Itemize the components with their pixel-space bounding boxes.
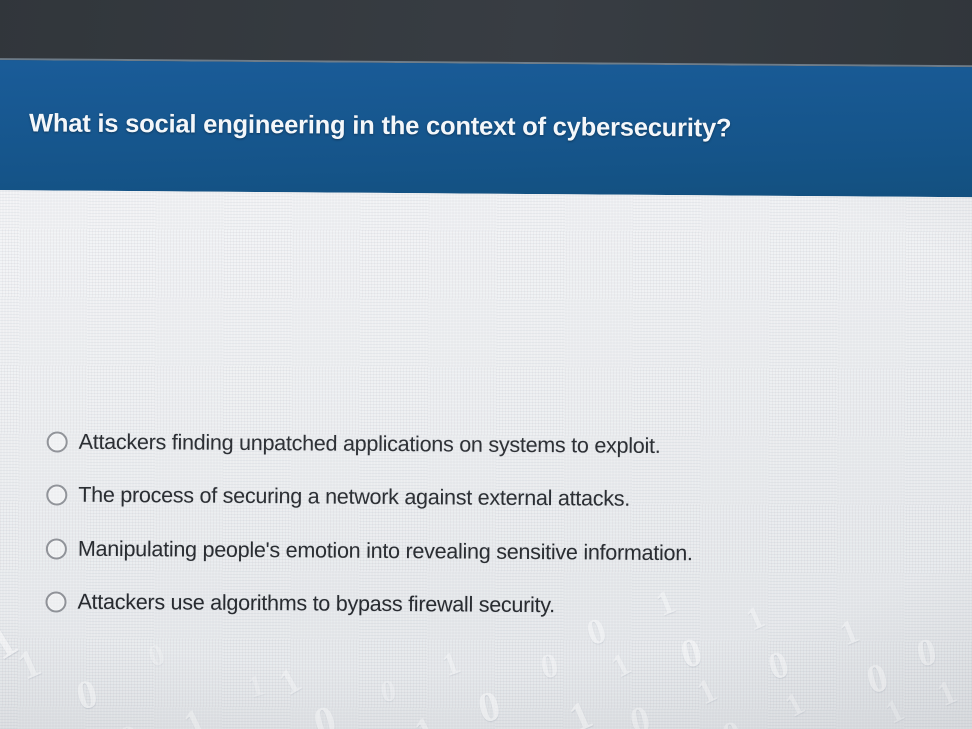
option-label: Attackers use algorithms to bypass firew… bbox=[77, 590, 555, 618]
watermark-digit: 0 bbox=[581, 609, 611, 654]
watermark-digit: 0 bbox=[804, 725, 831, 729]
screen-pixel-texture bbox=[0, 190, 972, 729]
watermark-digit: 1 bbox=[272, 659, 308, 704]
photographed-screen: What is social engineering in the contex… bbox=[0, 0, 972, 729]
watermark-digit: 1 bbox=[692, 671, 724, 713]
watermark-digit: 0 bbox=[72, 669, 102, 719]
option-label: The process of securing a network agains… bbox=[78, 483, 630, 512]
option-row-c[interactable]: Manipulating people's emotion into revea… bbox=[46, 536, 693, 566]
quiz-screen: What is social engineering in the contex… bbox=[0, 0, 972, 729]
answer-panel: 110010101011010101010101010101010101 Att… bbox=[0, 190, 972, 729]
watermark-digit: 1 bbox=[779, 684, 810, 724]
watermark-digit: 1 bbox=[741, 598, 770, 638]
photo-glare bbox=[0, 190, 972, 729]
watermark-digit: 1 bbox=[562, 690, 599, 729]
watermark-digit: 0 bbox=[675, 627, 707, 678]
radio-unchecked-icon[interactable] bbox=[46, 484, 67, 505]
watermark-digit: 1 bbox=[605, 645, 636, 685]
watermark-digit: 1 bbox=[437, 644, 464, 684]
radio-unchecked-icon[interactable] bbox=[46, 538, 67, 559]
question-banner: What is social engineering in the contex… bbox=[0, 60, 972, 197]
option-row-a[interactable]: Attackers finding unpatched applications… bbox=[47, 429, 661, 458]
top-chrome-bar bbox=[0, 0, 972, 67]
watermark-digit: 1 bbox=[932, 673, 963, 715]
watermark-digit: 1 bbox=[177, 700, 213, 729]
watermark-digit: 1 bbox=[506, 718, 540, 729]
watermark-digit: 1 bbox=[407, 707, 444, 729]
watermark-digit: 1 bbox=[0, 613, 26, 670]
watermark-digit: 0 bbox=[473, 682, 505, 729]
watermark-digit: 0 bbox=[913, 629, 940, 676]
watermark-digit: 1 bbox=[835, 613, 865, 655]
watermark-digit: 1 bbox=[10, 638, 47, 689]
watermark-digit: 0 bbox=[763, 642, 794, 690]
radio-unchecked-icon[interactable] bbox=[47, 431, 68, 452]
question-text: What is social engineering in the contex… bbox=[0, 108, 761, 147]
radio-unchecked-icon[interactable] bbox=[45, 591, 66, 612]
option-row-d[interactable]: Attackers use algorithms to bypass firew… bbox=[45, 589, 555, 618]
watermark-digit: 1 bbox=[245, 669, 269, 706]
option-label: Manipulating people's emotion into revea… bbox=[78, 537, 693, 567]
watermark-digit: 0 bbox=[537, 647, 561, 688]
option-row-b[interactable]: The process of securing a network agains… bbox=[46, 482, 630, 511]
watermark-digit: 0 bbox=[144, 638, 170, 675]
watermark-digit: 0 bbox=[115, 715, 145, 729]
watermark-digit: 1 bbox=[346, 721, 376, 729]
watermark-digit: 1 bbox=[880, 691, 910, 729]
watermark-digit: 0 bbox=[861, 653, 893, 704]
watermark-digit: 0 bbox=[626, 697, 655, 729]
watermark-digit: 0 bbox=[378, 674, 398, 710]
watermark-digit: 0 bbox=[719, 712, 745, 729]
watermark-digit: 0 bbox=[309, 697, 342, 729]
option-label: Attackers finding unpatched applications… bbox=[79, 430, 661, 459]
watermark-digit: 1 bbox=[651, 583, 681, 625]
